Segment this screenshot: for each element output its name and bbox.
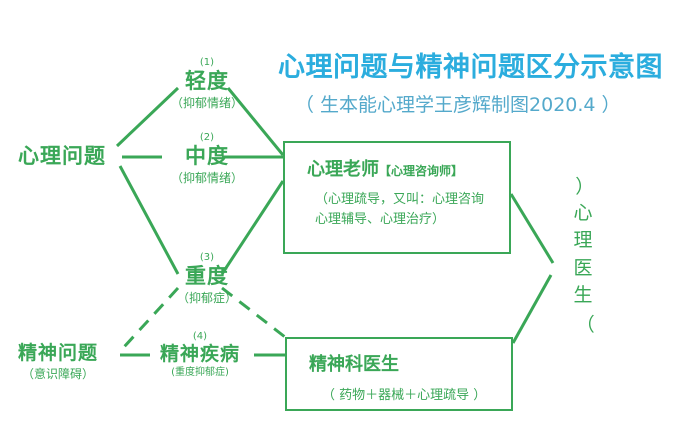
box-psychiatrist-title: 精神科医生 — [309, 350, 511, 376]
node-moderate-label: 中度 — [152, 146, 262, 167]
line-psychiatrist-to-doctor-label — [513, 275, 551, 343]
page-subtitle: （ 生本能心理学王彦辉制图2020.4 ） — [295, 90, 621, 117]
box-psych-teacher-title-main: 心理老师 — [307, 159, 379, 180]
node-mental-problem[interactable]: 精神问题 （意识障碍） — [18, 344, 98, 380]
box-psychiatrist-title-main: 精神科医生 — [309, 354, 399, 375]
box-psych-teacher-body: （心理疏导，又叫：心理咨询 心理辅导、心理治疗） — [315, 190, 509, 230]
node-psych-problem[interactable]: 心理问题 — [18, 146, 106, 167]
vertical-label-char-0: 心 — [570, 200, 596, 228]
box-psychiatrist-body: （ 药物＋器械＋心理疏导 ） — [322, 386, 511, 406]
node-severe-label: 重度 — [152, 266, 262, 287]
box-psychiatrist-line1: （ 药物＋器械＋心理疏导 ） — [322, 386, 511, 406]
diagram-canvas: 心理问题与精神问题区分示意图 （ 生本能心理学王彦辉制图2020.4 ） 心理问… — [0, 0, 685, 435]
node-moderate-index: (2) — [152, 133, 262, 143]
node-mild[interactable]: (1) 轻度 （抑郁情绪） — [152, 58, 262, 109]
node-psych-problem-label: 心理问题 — [18, 146, 106, 167]
vertical-label-char-2: 医 — [570, 255, 596, 283]
node-mild-index: (1) — [152, 58, 262, 68]
box-psych-teacher-title: 心理老师【心理咨询师】 — [307, 155, 509, 181]
vertical-label-psych-doctor: ︵ 心 理 医 生 ︶ — [570, 172, 596, 337]
node-mild-label: 轻度 — [152, 71, 262, 92]
node-severe[interactable]: (3) 重度 （抑郁症） — [152, 253, 262, 304]
node-mental-problem-label: 精神问题 — [18, 344, 98, 363]
node-moderate[interactable]: (2) 中度 （抑郁情绪） — [152, 133, 262, 184]
node-mental-illness-label: 精神疾病 — [140, 345, 260, 364]
box-psychiatrist[interactable]: 精神科医生 （ 药物＋器械＋心理疏导 ） — [285, 337, 513, 411]
vertical-label-char-3: 生 — [570, 282, 596, 310]
box-psych-teacher-line1: （心理疏导，又叫：心理咨询 — [315, 190, 509, 210]
node-mental-problem-sub: （意识障碍） — [18, 368, 98, 380]
node-mild-sub: （抑郁情绪） — [152, 97, 262, 109]
node-severe-index: (3) — [152, 253, 262, 263]
vertical-label-open-paren: ︵ — [569, 173, 597, 199]
node-severe-sub: （抑郁症） — [152, 292, 262, 304]
node-mental-illness[interactable]: (4) 精神疾病 (重度抑郁症) — [140, 332, 260, 378]
node-mental-illness-index: (4) — [140, 332, 260, 342]
box-psych-teacher-title-bracket: 【心理咨询师】 — [379, 164, 463, 178]
vertical-label-close-paren: ︶ — [569, 311, 597, 337]
line-teacher-to-doctor-label — [511, 194, 553, 263]
box-psych-teacher[interactable]: 心理老师【心理咨询师】 （心理疏导，又叫：心理咨询 心理辅导、心理治疗） — [283, 141, 511, 254]
node-moderate-sub: （抑郁情绪） — [152, 172, 262, 184]
page-title: 心理问题与精神问题区分示意图 — [278, 45, 663, 84]
node-mental-illness-sub: (重度抑郁症) — [140, 368, 260, 378]
vertical-label-char-1: 理 — [570, 227, 596, 255]
box-psych-teacher-line2: 心理辅导、心理治疗） — [315, 210, 509, 230]
